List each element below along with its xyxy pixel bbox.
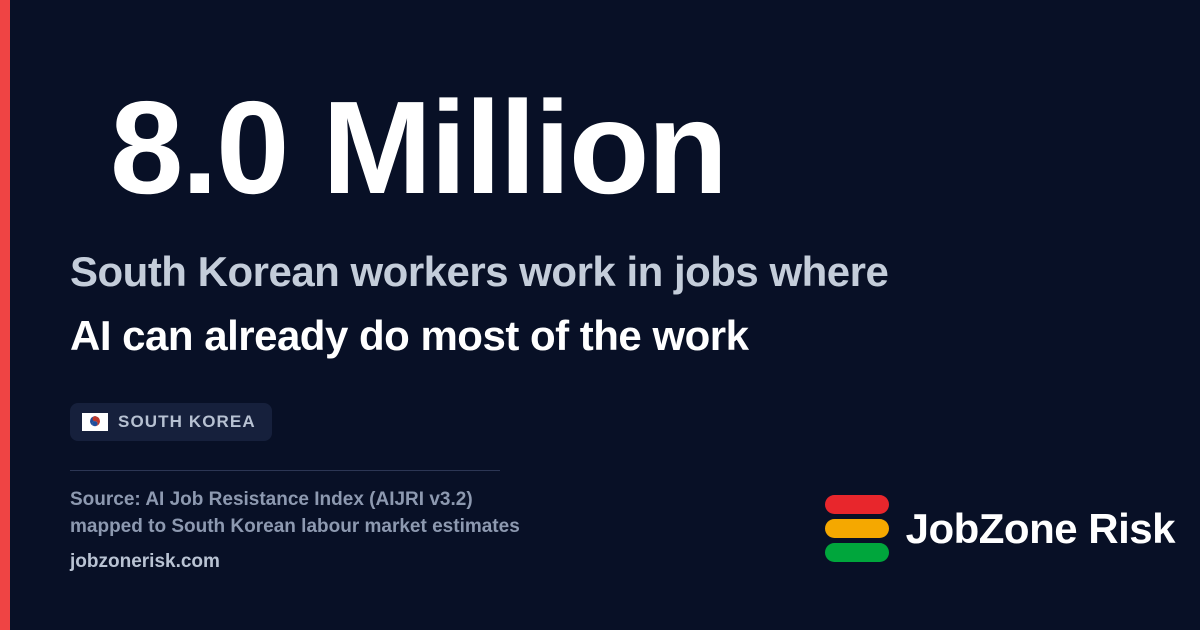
logo-bar-medium-risk [825, 519, 889, 538]
subtitle-line-2: AI can already do most of the work [70, 304, 1140, 368]
brand-lockup: JobZone Risk [825, 495, 1175, 562]
brand-name: JobZone Risk [906, 505, 1175, 553]
region-badge-label: SOUTH KOREA [118, 412, 256, 432]
logo-bar-high-risk [825, 495, 889, 514]
source-line-1: Source: AI Job Resistance Index (AIJRI v… [70, 486, 520, 513]
subtitle-line-1: South Korean workers work in jobs where [70, 240, 1140, 304]
jobzone-logo-icon [825, 495, 889, 562]
stat-card: 8.0 Million South Korean workers work in… [0, 0, 1200, 630]
region-badge: SOUTH KOREA [70, 403, 272, 441]
headline-statistic: 8.0 Million [110, 82, 726, 214]
source-attribution: Source: AI Job Resistance Index (AIJRI v… [70, 486, 520, 540]
left-accent-bar [0, 0, 10, 630]
site-url: jobzonerisk.com [70, 551, 220, 573]
source-line-2: mapped to South Korean labour market est… [70, 513, 520, 540]
footer-divider [70, 470, 500, 471]
subtitle-block: South Korean workers work in jobs where … [70, 240, 1140, 368]
south-korea-flag-icon [82, 413, 108, 431]
logo-bar-low-risk [825, 543, 889, 562]
